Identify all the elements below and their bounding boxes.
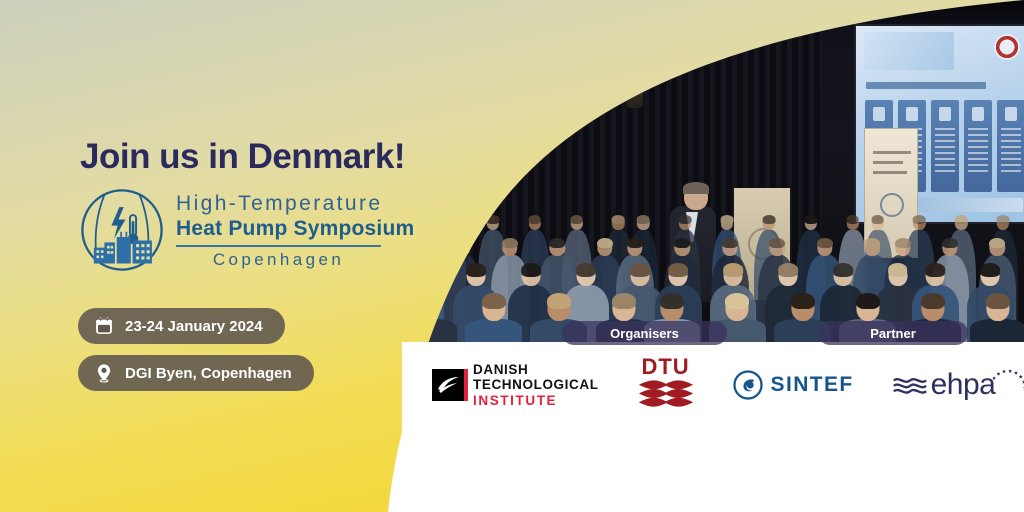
audience-hair	[576, 263, 596, 276]
audience-hair	[769, 238, 785, 249]
audience-hair	[597, 238, 613, 249]
dtu-wordmark: DTU	[637, 357, 695, 378]
map-pin-icon	[94, 362, 114, 384]
audience-hair	[669, 263, 689, 276]
dti-line-3: INSTITUTE	[473, 393, 599, 408]
audience-hair	[674, 238, 690, 249]
organisers-pill-label: Organisers	[610, 326, 679, 341]
rollup-text-line	[873, 161, 903, 164]
dti-wordmark: DANISH TECHNOLOGICAL INSTITUTE	[473, 362, 599, 407]
dti-line-2: TECHNOLOGICAL	[473, 377, 599, 392]
audience-hair	[913, 215, 926, 224]
audience-hair	[864, 238, 880, 249]
partner-pill: Partner	[818, 321, 968, 345]
dtu-logo[interactable]: DTU	[637, 357, 695, 414]
audience-hair	[791, 293, 815, 309]
audience-body	[970, 319, 1024, 342]
logo-line-3: Copenhagen	[176, 250, 381, 270]
audience-hair	[856, 293, 880, 309]
audience-hair	[981, 263, 1001, 276]
audience-hair	[942, 238, 958, 249]
date-badge-label: 23-24 January 2024	[125, 318, 263, 335]
slide-image	[864, 32, 954, 70]
heat-pump-symposium-circle-logo	[78, 186, 166, 274]
venue-badge-label: DGI Byen, Copenhagen	[125, 365, 292, 382]
audience-hair	[955, 215, 968, 224]
sponsor-logo-row: DANISH TECHNOLOGICAL INSTITUTE DTU	[402, 342, 1024, 428]
ehpa-wordmark: ehpa	[931, 370, 996, 400]
audience-hair	[466, 263, 486, 276]
audience-hair	[817, 238, 833, 249]
audience-hair	[895, 238, 911, 249]
audience-hair	[547, 293, 571, 309]
audience-hair	[763, 215, 776, 224]
symposium-logo-text: High-Temperature Heat Pump Symposium Cop…	[176, 190, 414, 270]
partner-pill-label: Partner	[870, 326, 916, 341]
danish-technological-institute-logo[interactable]: DANISH TECHNOLOGICAL INSTITUTE	[432, 362, 599, 407]
logo-line-2: Heat Pump Symposium	[176, 217, 414, 242]
audience-hair	[723, 263, 743, 276]
audience-hair	[482, 293, 506, 309]
audience-hair	[660, 293, 684, 309]
audience-hair	[721, 215, 734, 224]
audience-hair	[679, 215, 692, 224]
audience-member	[465, 298, 522, 342]
ehpa-stars-icon	[992, 362, 1024, 402]
dtu-lens-icon	[637, 379, 695, 408]
audience-hair	[725, 293, 749, 309]
slide-title-bar	[866, 82, 986, 89]
calendar-icon	[94, 315, 114, 337]
page-title: Join us in Denmark!	[80, 137, 405, 177]
audience-hair	[549, 238, 565, 249]
audience-hair	[997, 215, 1010, 224]
venue-badge[interactable]: DGI Byen, Copenhagen	[78, 355, 314, 391]
audience-hair	[612, 293, 636, 309]
event-promo-banner: Join us in Denmark!	[0, 0, 1024, 512]
sintef-wordmark: SINTEF	[771, 373, 854, 397]
rollup-text-line	[873, 151, 911, 154]
symposium-logo: High-Temperature Heat Pump Symposium Cop…	[78, 186, 414, 274]
audience-hair	[926, 263, 946, 276]
audience-body	[465, 319, 522, 342]
audience-hair	[612, 215, 625, 224]
audience-hair	[528, 215, 541, 224]
audience-hair	[722, 238, 738, 249]
audience-hair	[778, 263, 798, 276]
audience-hair	[502, 238, 518, 249]
audience-hair	[989, 238, 1005, 249]
dti-line-1: DANISH	[473, 362, 599, 377]
audience-hair	[888, 263, 908, 276]
audience-hair	[631, 263, 651, 276]
sintef-logo[interactable]: SINTEF	[733, 370, 854, 400]
sponsor-logo-bar: DANISH TECHNOLOGICAL INSTITUTE DTU	[402, 342, 1024, 512]
sintef-circle-icon	[733, 370, 763, 400]
ehpa-logo[interactable]: ehpa	[892, 368, 1024, 402]
logo-divider	[176, 245, 381, 247]
ehpa-wave-icon	[892, 372, 928, 398]
logo-line-1: High-Temperature	[176, 192, 414, 217]
date-badge[interactable]: 23-24 January 2024	[78, 308, 285, 344]
audience-hair	[921, 293, 945, 309]
organisers-pill: Organisers	[562, 321, 727, 345]
audience-hair	[871, 215, 884, 224]
audience-hair	[521, 263, 541, 276]
audience-hair	[627, 238, 643, 249]
audience-member	[970, 298, 1024, 342]
dti-arrow-icon	[432, 369, 464, 401]
audience-hair	[846, 215, 859, 224]
audience-hair	[637, 215, 650, 224]
slide-badge	[994, 34, 1020, 60]
audience-hair	[986, 293, 1010, 309]
audience-hair	[570, 215, 583, 224]
audience-hair	[804, 215, 817, 224]
left-content: Join us in Denmark!	[0, 0, 430, 512]
audience-hair	[833, 263, 853, 276]
